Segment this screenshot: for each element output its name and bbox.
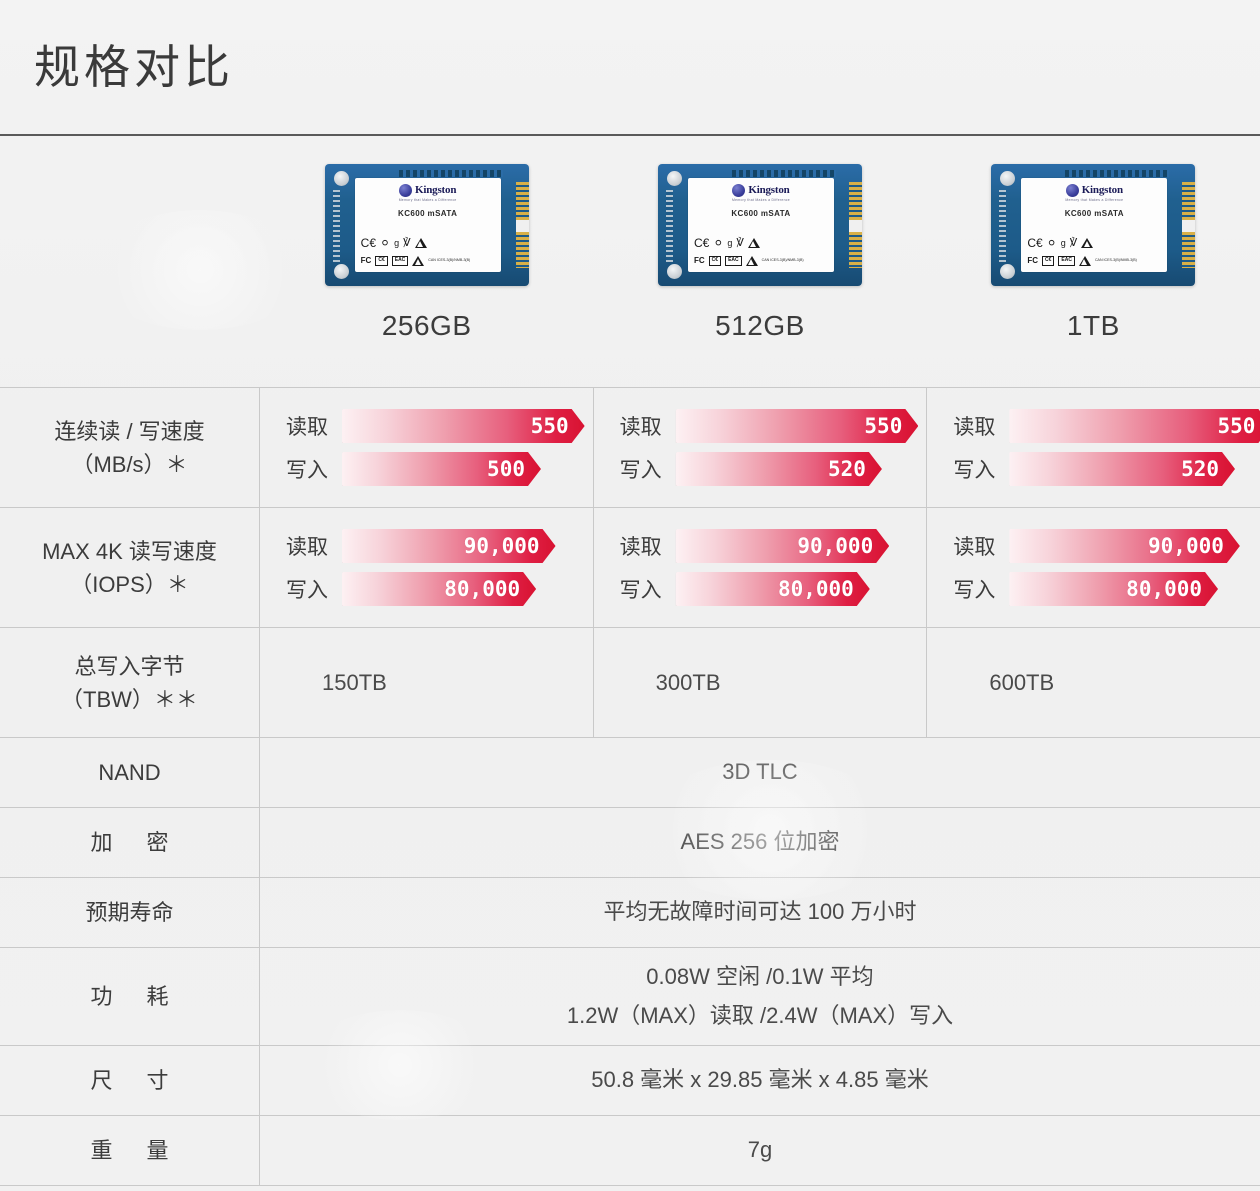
warning-triangle-icon (415, 238, 427, 248)
capacity-label-2: 1TB (1067, 310, 1120, 342)
kc-mark-icon: ℣ (1070, 236, 1078, 249)
ssd-label-0: Kingston Memory that Makes a Difference … (355, 178, 501, 272)
ssd-image-0: Kingston Memory that Makes a Difference … (325, 164, 529, 286)
bar-line-write: 写入 80,000 (620, 572, 919, 606)
certification-marks: C€ ⚪ g ℣ FC C€ EAC CAN ICES-3(B)/NMB-3(B… (1021, 234, 1167, 269)
rohs-icon: g (1061, 238, 1066, 248)
bar-line-read: 读取 550 (286, 409, 585, 443)
power-value: 0.08W 空闲 /0.1W 平均 1.2W（MAX）读取 /2.4W（MAX）… (260, 948, 1260, 1045)
bar-tag-write: 写入 (286, 454, 328, 484)
row-label-life: 预期寿命 (0, 878, 260, 947)
bar-tag-read: 读取 (286, 411, 328, 441)
kc-mark-icon: ℣ (403, 236, 411, 249)
eac-box-icon: EAC (392, 256, 409, 266)
encryption-value: AES 256 位加密 (260, 808, 1260, 877)
bar-value-read: 550 (531, 414, 569, 438)
screw-hole-icon (334, 264, 349, 279)
brand-tagline: Memory that Makes a Difference (1021, 198, 1167, 202)
row-label-power: 功 耗 (0, 948, 260, 1045)
rohs-icon: g (394, 238, 399, 248)
bar-tag-read: 读取 (286, 531, 328, 561)
bar-tag-write: 写入 (953, 454, 995, 484)
pcb-pads-icon (333, 190, 340, 262)
fcc-mark-icon: FC (1027, 256, 1038, 265)
row-label-dimensions-text: 尺 寸 (76, 1064, 182, 1097)
bar-value-write: 80,000 (444, 577, 520, 601)
brand-tagline: Memory that Makes a Difference (355, 198, 501, 202)
tbw-cell-256gb: 150TB (260, 628, 594, 737)
bar-line-read: 读取 550 (620, 409, 919, 443)
bar-line-read: 读取 90,000 (286, 529, 585, 563)
bar-value-read: 550 (864, 414, 902, 438)
table-row-life: 预期寿命 平均无故障时间可达 100 万小时 (0, 878, 1260, 948)
row-label-iops-line2: （IOPS）＊ (70, 568, 189, 601)
bar-line-read: 读取 550 (953, 409, 1252, 443)
recycle-triangle-icon (1079, 256, 1091, 266)
connector-notch-icon (516, 220, 529, 232)
bar-value-write: 500 (487, 457, 525, 481)
speed-cell-256gb: 读取 550 写入 500 (260, 388, 594, 507)
row-label-speed-line1: 连续读 / 写速度 (54, 415, 204, 448)
warning-triangle-icon (748, 238, 760, 248)
bar-tag-write: 写入 (953, 574, 995, 604)
bar-value-read: 90,000 (1148, 534, 1224, 558)
model-name: KC600 mSATA (688, 209, 834, 218)
ce-box-icon: C€ (709, 256, 721, 266)
spec-table: 连续读 / 写速度 （MB/s）＊ 读取 550 写入 500 读取 (0, 387, 1260, 1186)
bar-tag-write: 写入 (286, 574, 328, 604)
screw-hole-icon (667, 171, 682, 186)
ce-mark-icon: C€ (1027, 236, 1042, 250)
screw-hole-icon (1000, 171, 1015, 186)
page-title: 规格对比 (34, 44, 234, 90)
bar-value-read: 90,000 (464, 534, 540, 558)
weee-icon: ⚪ (1047, 236, 1057, 250)
bar-line-read: 读取 90,000 (953, 529, 1252, 563)
row-label-iops-line1: MAX 4K 读写速度 (42, 535, 217, 568)
screw-hole-icon (334, 171, 349, 186)
product-header-row: Kingston Memory that Makes a Difference … (0, 136, 1260, 387)
fcc-mark-icon: FC (694, 256, 705, 265)
table-row-dimensions: 尺 寸 50.8 毫米 x 29.85 毫米 x 4.85 毫米 (0, 1046, 1260, 1116)
iops-cell-512gb: 读取 90,000 写入 80,000 (594, 508, 928, 627)
capacity-label-0: 256GB (382, 310, 472, 342)
table-row-power: 功 耗 0.08W 空闲 /0.1W 平均 1.2W（MAX）读取 /2.4W（… (0, 948, 1260, 1046)
screw-hole-icon (1000, 264, 1015, 279)
connector-notch-icon (1182, 220, 1195, 232)
weee-icon: ⚪ (713, 236, 723, 250)
ssd-image-2: Kingston Memory that Makes a Difference … (991, 164, 1195, 286)
table-row-weight: 重 量 7g (0, 1116, 1260, 1186)
eac-box-icon: EAC (1058, 256, 1075, 266)
row-label-tbw-line2: （TBW）＊＊ (61, 683, 198, 716)
bar-tag-read: 读取 (620, 531, 662, 561)
pcb-pads-icon (999, 190, 1006, 262)
ssd-label-1: Kingston Memory that Makes a Difference … (688, 178, 834, 272)
bar-tag-write: 写入 (620, 574, 662, 604)
bar-value-read: 90,000 (797, 534, 873, 558)
iops-cell-1tb: 读取 90,000 写入 80,000 (927, 508, 1260, 627)
row-label-tbw-line1: 总写入字节 (74, 650, 184, 683)
kingston-orb-icon (732, 184, 745, 197)
bar-tag-read: 读取 (620, 411, 662, 441)
weight-value: 7g (260, 1116, 1260, 1185)
brand-name: Kingston (748, 185, 789, 196)
product-cell-2: Kingston Memory that Makes a Difference … (927, 136, 1260, 387)
row-values-speed: 读取 550 写入 500 读取 550 写入 520 (260, 388, 1260, 507)
bar-value-write: 80,000 (778, 577, 854, 601)
ce-box-icon: C€ (1042, 256, 1054, 266)
pcb-pads-icon (666, 190, 673, 262)
ssd-image-1: Kingston Memory that Makes a Difference … (658, 164, 862, 286)
power-value-line2: 1.2W（MAX）读取 /2.4W（MAX）写入 (567, 997, 953, 1036)
model-name: KC600 mSATA (1021, 209, 1167, 218)
table-row-nand: NAND 3D TLC (0, 738, 1260, 808)
bar-value-write: 520 (1181, 457, 1219, 481)
cert-code-text: CAN ICES-3(B)/NMB-3(B) (428, 258, 470, 262)
row-label-nand: NAND (0, 738, 260, 807)
pcb-chips-icon (1065, 170, 1169, 177)
bar-line-write: 写入 80,000 (286, 572, 585, 606)
nand-value: 3D TLC (260, 738, 1260, 807)
connector-notch-icon (849, 220, 862, 232)
row-label-weight-text: 重 量 (76, 1134, 182, 1167)
brand-name: Kingston (415, 185, 456, 196)
kingston-logo: Kingston (1021, 184, 1167, 197)
row-label-encryption: 加 密 (0, 808, 260, 877)
power-value-line1: 0.08W 空闲 /0.1W 平均 (646, 958, 873, 997)
spec-comparison-page: 规格对比 Kingston Memory that Makes a Differ… (0, 0, 1260, 1191)
speed-cell-512gb: 读取 550 写入 520 (594, 388, 928, 507)
row-label-power-text: 功 耗 (76, 980, 182, 1013)
weee-icon: ⚪ (380, 236, 390, 250)
bar-line-write: 写入 80,000 (953, 572, 1252, 606)
cert-code-text: CAN ICES-3(B)/NMB-3(B) (762, 258, 804, 262)
product-cell-0: Kingston Memory that Makes a Difference … (260, 136, 593, 387)
row-label-weight: 重 量 (0, 1116, 260, 1185)
iops-cell-256gb: 读取 90,000 写入 80,000 (260, 508, 594, 627)
ssd-label-2: Kingston Memory that Makes a Difference … (1021, 178, 1167, 272)
brand-tagline: Memory that Makes a Difference (688, 198, 834, 202)
model-name: KC600 mSATA (355, 209, 501, 218)
dimensions-value: 50.8 毫米 x 29.85 毫米 x 4.85 毫米 (260, 1046, 1260, 1115)
row-label-speed-line2: （MB/s）＊ (71, 448, 187, 481)
title-bar: 规格对比 (0, 0, 1260, 136)
row-values-iops: 读取 90,000 写入 80,000 读取 90,000 写入 (260, 508, 1260, 627)
kingston-logo: Kingston (688, 184, 834, 197)
row-label-encryption-text: 加 密 (76, 826, 182, 859)
kingston-orb-icon (1066, 184, 1079, 197)
row-values-tbw: 150TB 300TB 600TB (260, 628, 1260, 737)
bar-tag-read: 读取 (953, 531, 995, 561)
pcb-chips-icon (399, 170, 503, 177)
bar-tag-read: 读取 (953, 411, 995, 441)
cert-code-text: CAN ICES-3(B)/NMB-3(B) (1095, 258, 1137, 262)
ce-box-icon: C€ (375, 256, 387, 266)
row-label-speed: 连续读 / 写速度 （MB/s）＊ (0, 388, 260, 507)
table-row-tbw: 总写入字节 （TBW）＊＊ 150TB 300TB 600TB (0, 628, 1260, 738)
bar-line-read: 读取 90,000 (620, 529, 919, 563)
bar-line-write: 写入 520 (953, 452, 1252, 486)
recycle-triangle-icon (412, 256, 424, 266)
kingston-orb-icon (399, 184, 412, 197)
capacity-label-1: 512GB (715, 310, 805, 342)
certification-marks: C€ ⚪ g ℣ FC C€ EAC CAN ICES-3(B)/NMB-3(B… (688, 234, 834, 269)
kc-mark-icon: ℣ (736, 236, 744, 249)
eac-box-icon: EAC (725, 256, 742, 266)
table-row-speed: 连续读 / 写速度 （MB/s）＊ 读取 550 写入 500 读取 (0, 388, 1260, 508)
bar-value-write: 80,000 (1126, 577, 1202, 601)
bar-tag-write: 写入 (620, 454, 662, 484)
screw-hole-icon (667, 264, 682, 279)
bar-value-read: 550 (1217, 414, 1255, 438)
tbw-cell-1tb: 600TB (927, 628, 1260, 737)
row-label-iops: MAX 4K 读写速度 （IOPS）＊ (0, 508, 260, 627)
ce-mark-icon: C€ (361, 236, 376, 250)
product-cell-1: Kingston Memory that Makes a Difference … (593, 136, 926, 387)
fcc-mark-icon: FC (361, 256, 372, 265)
rohs-icon: g (727, 238, 732, 248)
pcb-chips-icon (732, 170, 836, 177)
warning-triangle-icon (1081, 238, 1093, 248)
certification-marks: C€ ⚪ g ℣ FC C€ EAC CAN ICES-3(B)/NMB-3(B… (355, 234, 501, 269)
life-value: 平均无故障时间可达 100 万小时 (260, 878, 1260, 947)
table-row-encryption: 加 密 AES 256 位加密 (0, 808, 1260, 878)
row-label-tbw: 总写入字节 （TBW）＊＊ (0, 628, 260, 737)
tbw-cell-512gb: 300TB (594, 628, 928, 737)
speed-cell-1tb: 读取 550 写入 520 (927, 388, 1260, 507)
bar-line-write: 写入 520 (620, 452, 919, 486)
ce-mark-icon: C€ (694, 236, 709, 250)
bar-value-write: 520 (828, 457, 866, 481)
bar-line-write: 写入 500 (286, 452, 585, 486)
kingston-logo: Kingston (355, 184, 501, 197)
brand-name: Kingston (1082, 185, 1123, 196)
row-label-dimensions: 尺 寸 (0, 1046, 260, 1115)
recycle-triangle-icon (746, 256, 758, 266)
table-row-iops: MAX 4K 读写速度 （IOPS）＊ 读取 90,000 写入 80,000 (0, 508, 1260, 628)
